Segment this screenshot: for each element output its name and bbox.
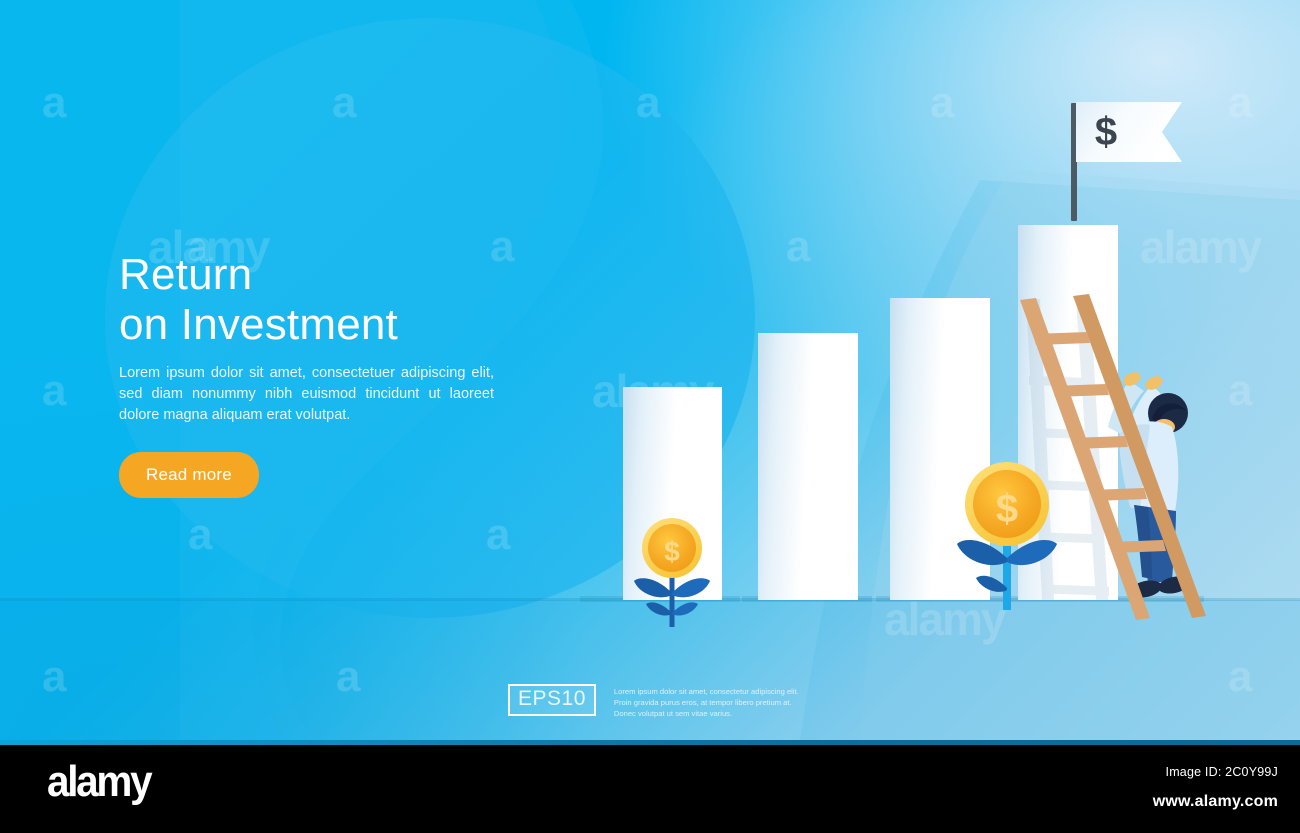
image-id-label: Image ID: 2C0Y99J xyxy=(1166,765,1278,779)
page-title: Return on Investment xyxy=(119,250,539,350)
alamy-footer-bar xyxy=(0,740,1300,833)
alamy-logo: alamy xyxy=(47,757,150,807)
read-more-button[interactable]: Read more xyxy=(119,452,259,498)
illustration-canvas: aaaaaaaaaalamyaaaalamyaaaaaaaalamyalamy xyxy=(0,0,1300,740)
alamy-url-label: www.alamy.com xyxy=(1153,793,1278,811)
screenshot-root: aaaaaaaaaalamyaaaalamyaaaaaaaalamyalamy xyxy=(0,0,1300,833)
hero-copy-block: Return on Investment Lorem ipsum dolor s… xyxy=(119,250,539,498)
footer-top-accent-line xyxy=(0,740,1300,745)
hero-body-text: Lorem ipsum dolor sit amet, consectetuer… xyxy=(119,363,494,426)
eps-badge: EPS10 xyxy=(508,684,596,716)
eps-note-text: Lorem ipsum dolor sit amet, consectetur … xyxy=(614,684,799,719)
eps-footer-note: EPS10 Lorem ipsum dolor sit amet, consec… xyxy=(508,684,799,719)
